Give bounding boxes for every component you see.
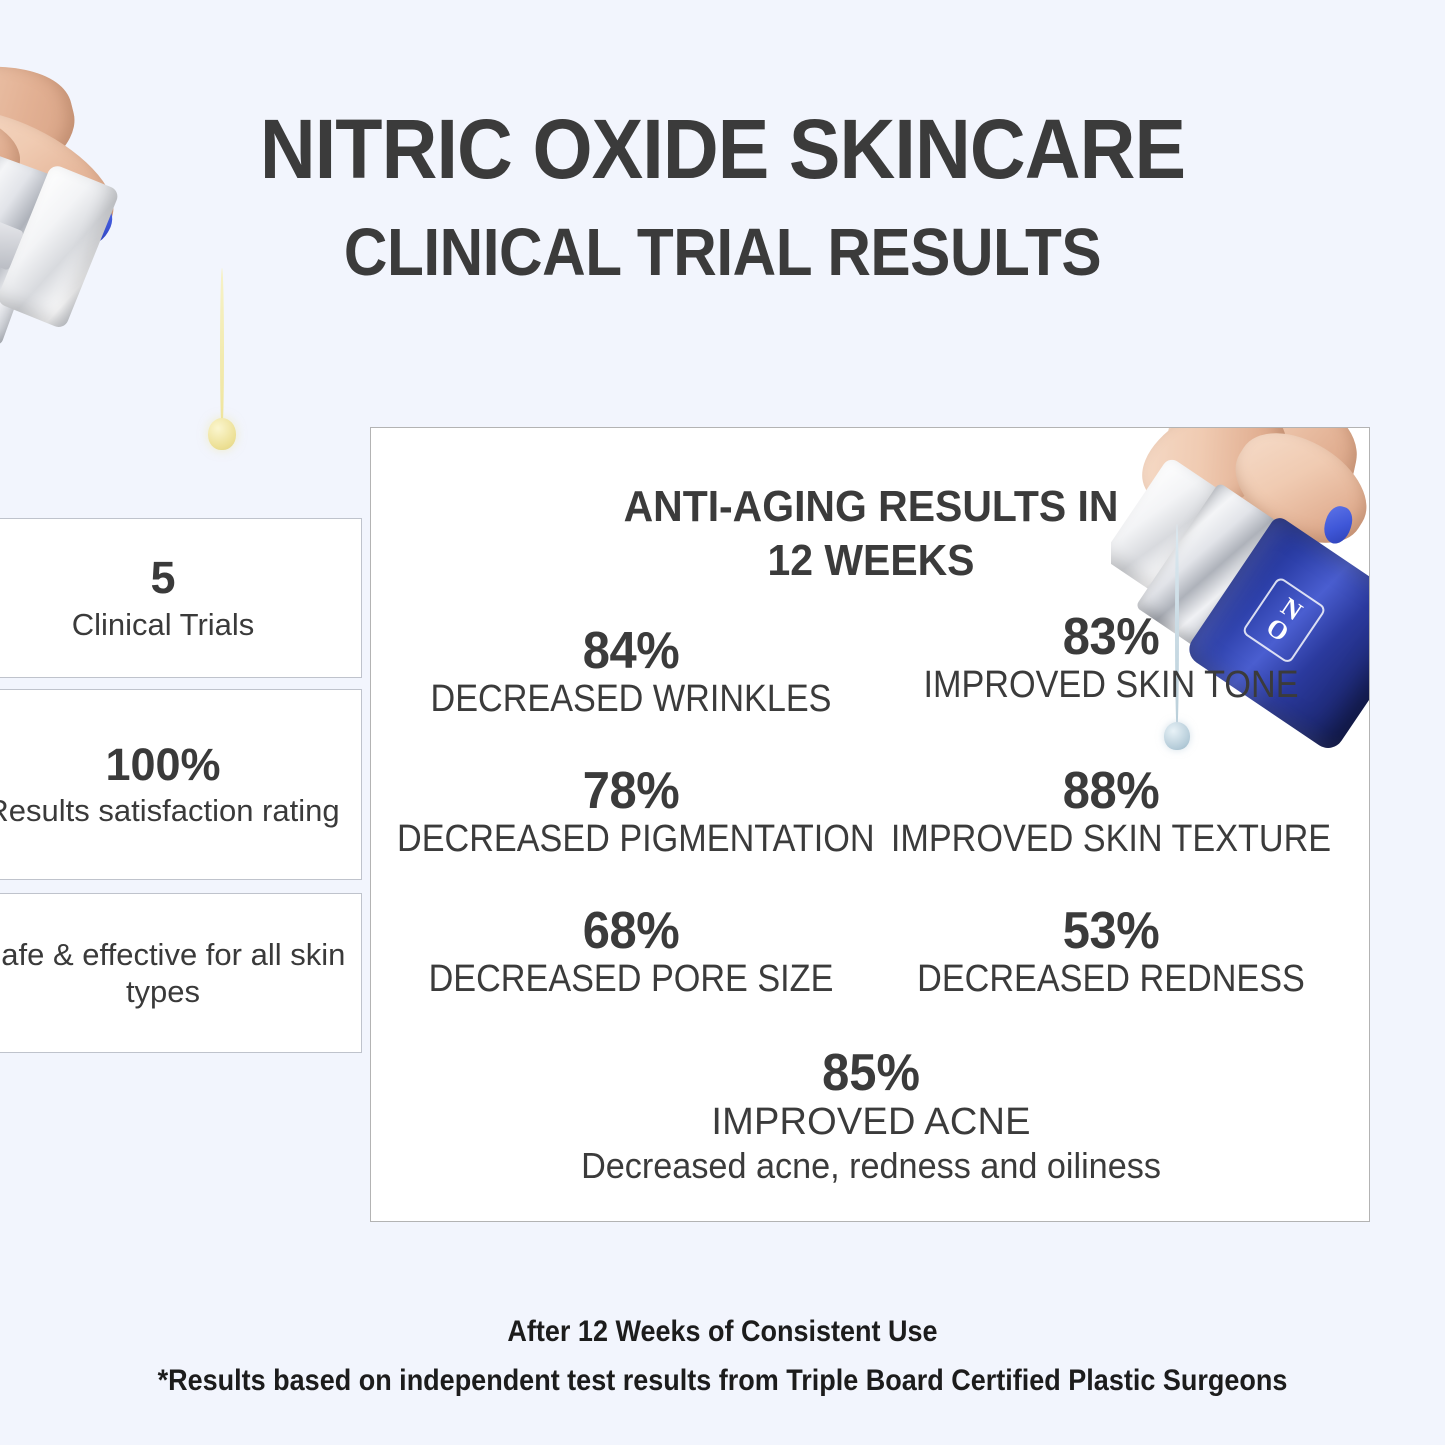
result-sublabel: Decreased acne, redness and oiliness (396, 1144, 1346, 1187)
panel-heading: ANTI-AGING RESULTS IN 12 WEEKS (406, 480, 1336, 587)
stat-label: Clinical Trials (72, 606, 255, 643)
stat-label: Results satisfaction rating (0, 792, 340, 829)
result-improved-skin-texture: 88% IMPROVED SKIN TEXTURE (851, 764, 1370, 861)
stat-value: 100% (105, 740, 220, 790)
serum-droplet-left (208, 418, 236, 450)
result-improved-acne: 85% IMPROVED ACNE Decreased acne, rednes… (371, 1046, 1370, 1188)
stat-label: Safe & effective for all skin types (0, 936, 347, 1010)
footer: After 12 Weeks of Consistent Use *Result… (0, 1312, 1445, 1401)
result-improved-skin-tone: 83% IMPROVED SKIN TONE (851, 610, 1370, 707)
result-label: DECREASED PORE SIZE (397, 958, 865, 1001)
results-panel: N O ANTI-AGING RESULTS IN 12 WEEKS 84% D… (370, 427, 1370, 1222)
result-percent: 85% (401, 1046, 1341, 1101)
page-title: NITRIC OXIDE SKINCARE (58, 105, 1387, 193)
result-percent: 88% (867, 764, 1356, 818)
result-percent: 78% (387, 764, 876, 818)
panel-heading-line-2: 12 WEEKS (406, 534, 1336, 588)
results-grid: 84% DECREASED WRINKLES 83% IMPROVED SKIN… (371, 624, 1370, 1044)
results-row: 78% DECREASED PIGMENTATION 88% IMPROVED … (371, 764, 1370, 904)
result-label: IMPROVED SKIN TONE (877, 664, 1345, 707)
result-label: DECREASED PIGMENTATION (397, 818, 865, 861)
stat-box-skin-types: Safe & effective for all skin types (0, 893, 362, 1053)
result-decreased-pore-size: 68% DECREASED PORE SIZE (371, 904, 891, 1001)
stat-box-clinical-trials: 5 Clinical Trials (0, 518, 362, 678)
infographic-canvas: N O NITRIC OXIDE ACTIVATING SERUM 5 Clin… (0, 0, 1445, 1445)
result-label: IMPROVED ACNE (371, 1101, 1370, 1144)
stat-value: 5 (150, 553, 175, 603)
result-percent: 83% (867, 610, 1356, 664)
results-row: 84% DECREASED WRINKLES 83% IMPROVED SKIN… (371, 624, 1370, 764)
result-decreased-wrinkles: 84% DECREASED WRINKLES (371, 624, 891, 721)
result-label: IMPROVED SKIN TEXTURE (877, 818, 1345, 861)
footer-disclaimer: *Results based on independent test resul… (72, 1361, 1373, 1402)
result-percent: 53% (867, 904, 1356, 958)
result-label: DECREASED REDNESS (877, 958, 1345, 1001)
result-decreased-redness: 53% DECREASED REDNESS (851, 904, 1370, 1001)
result-percent: 68% (387, 904, 876, 958)
result-decreased-pigmentation: 78% DECREASED PIGMENTATION (371, 764, 891, 861)
footer-line-1: After 12 Weeks of Consistent Use (72, 1312, 1373, 1353)
stat-box-satisfaction: 100% Results satisfaction rating (0, 689, 362, 880)
panel-heading-line-1: ANTI-AGING RESULTS IN (406, 480, 1336, 534)
serum-thread-left (220, 268, 224, 432)
result-percent: 84% (387, 624, 876, 678)
results-row: 68% DECREASED PORE SIZE 53% DECREASED RE… (371, 904, 1370, 1044)
page-subtitle: CLINICAL TRIAL RESULTS (72, 218, 1373, 288)
result-label: DECREASED WRINKLES (397, 678, 865, 721)
